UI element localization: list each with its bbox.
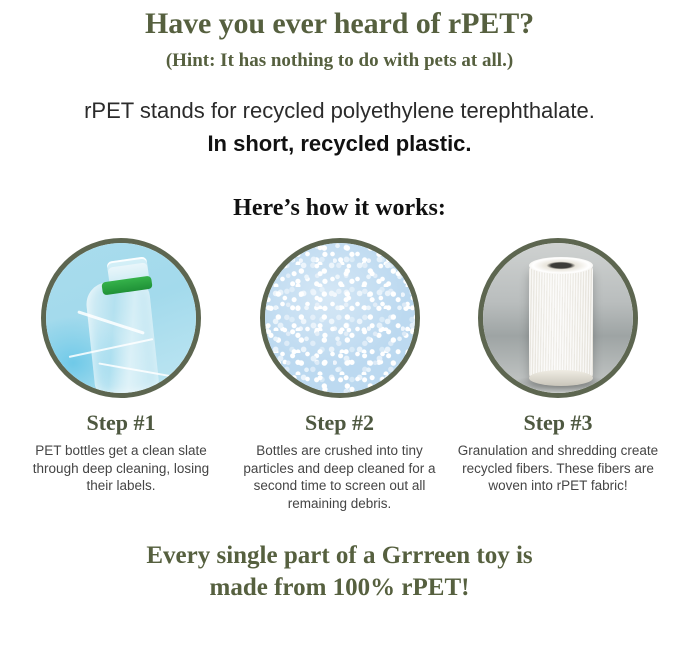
fiber-spool-image — [483, 243, 633, 393]
step-3-circle — [478, 238, 638, 398]
spool-thread-body-shape — [529, 265, 593, 379]
step-2-description: Bottles are crushed into tiny particles … — [231, 442, 449, 512]
how-it-works-heading: Here’s how it works: — [0, 194, 679, 222]
pet-flakes-image — [265, 243, 415, 393]
step-1-image-wrap — [41, 238, 201, 398]
tagline-line-2: made from 100% rPET! — [40, 572, 639, 604]
steps-row: Step #1 PET bottles get a clean slate th… — [0, 238, 679, 512]
step-3-image-wrap — [478, 238, 638, 398]
spool-top-shape — [529, 257, 593, 274]
tagline-line-1: Every single part of a Grrreen toy is — [40, 540, 639, 572]
definition-line-2: In short, recycled plastic. — [0, 128, 679, 160]
step-1: Step #1 PET bottles get a clean slate th… — [12, 238, 230, 495]
step-3-description: Granulation and shredding create recycle… — [449, 442, 667, 495]
hint-subtitle: (Hint: It has nothing to do with pets at… — [0, 48, 679, 74]
definition-block: rPET stands for recycled polyethylene te… — [0, 96, 679, 160]
footer-tagline: Every single part of a Grrreen toy is ma… — [0, 540, 679, 604]
header-block: Have you ever heard of rPET? (Hint: It h… — [0, 0, 679, 160]
step-2-circle — [260, 238, 420, 398]
step-2-image-wrap — [260, 238, 420, 398]
infographic-page: Have you ever heard of rPET? (Hint: It h… — [0, 0, 679, 649]
step-1-title: Step #1 — [12, 410, 230, 436]
step-3-title: Step #3 — [449, 410, 667, 436]
definition-line-1: rPET stands for recycled polyethylene te… — [0, 96, 679, 126]
pet-bottle-image — [46, 243, 196, 393]
step-2-title: Step #2 — [231, 410, 449, 436]
step-1-circle — [41, 238, 201, 398]
step-2: Step #2 Bottles are crushed into tiny pa… — [231, 238, 449, 512]
step-3: Step #3 Granulation and shredding create… — [449, 238, 667, 495]
spool-bottom-shape — [529, 370, 593, 386]
flakes-sheen-overlay — [265, 243, 415, 393]
page-title: Have you ever heard of rPET? — [0, 6, 679, 42]
bottle-body-shape — [84, 278, 159, 396]
step-1-description: PET bottles get a clean slate through de… — [12, 442, 230, 495]
